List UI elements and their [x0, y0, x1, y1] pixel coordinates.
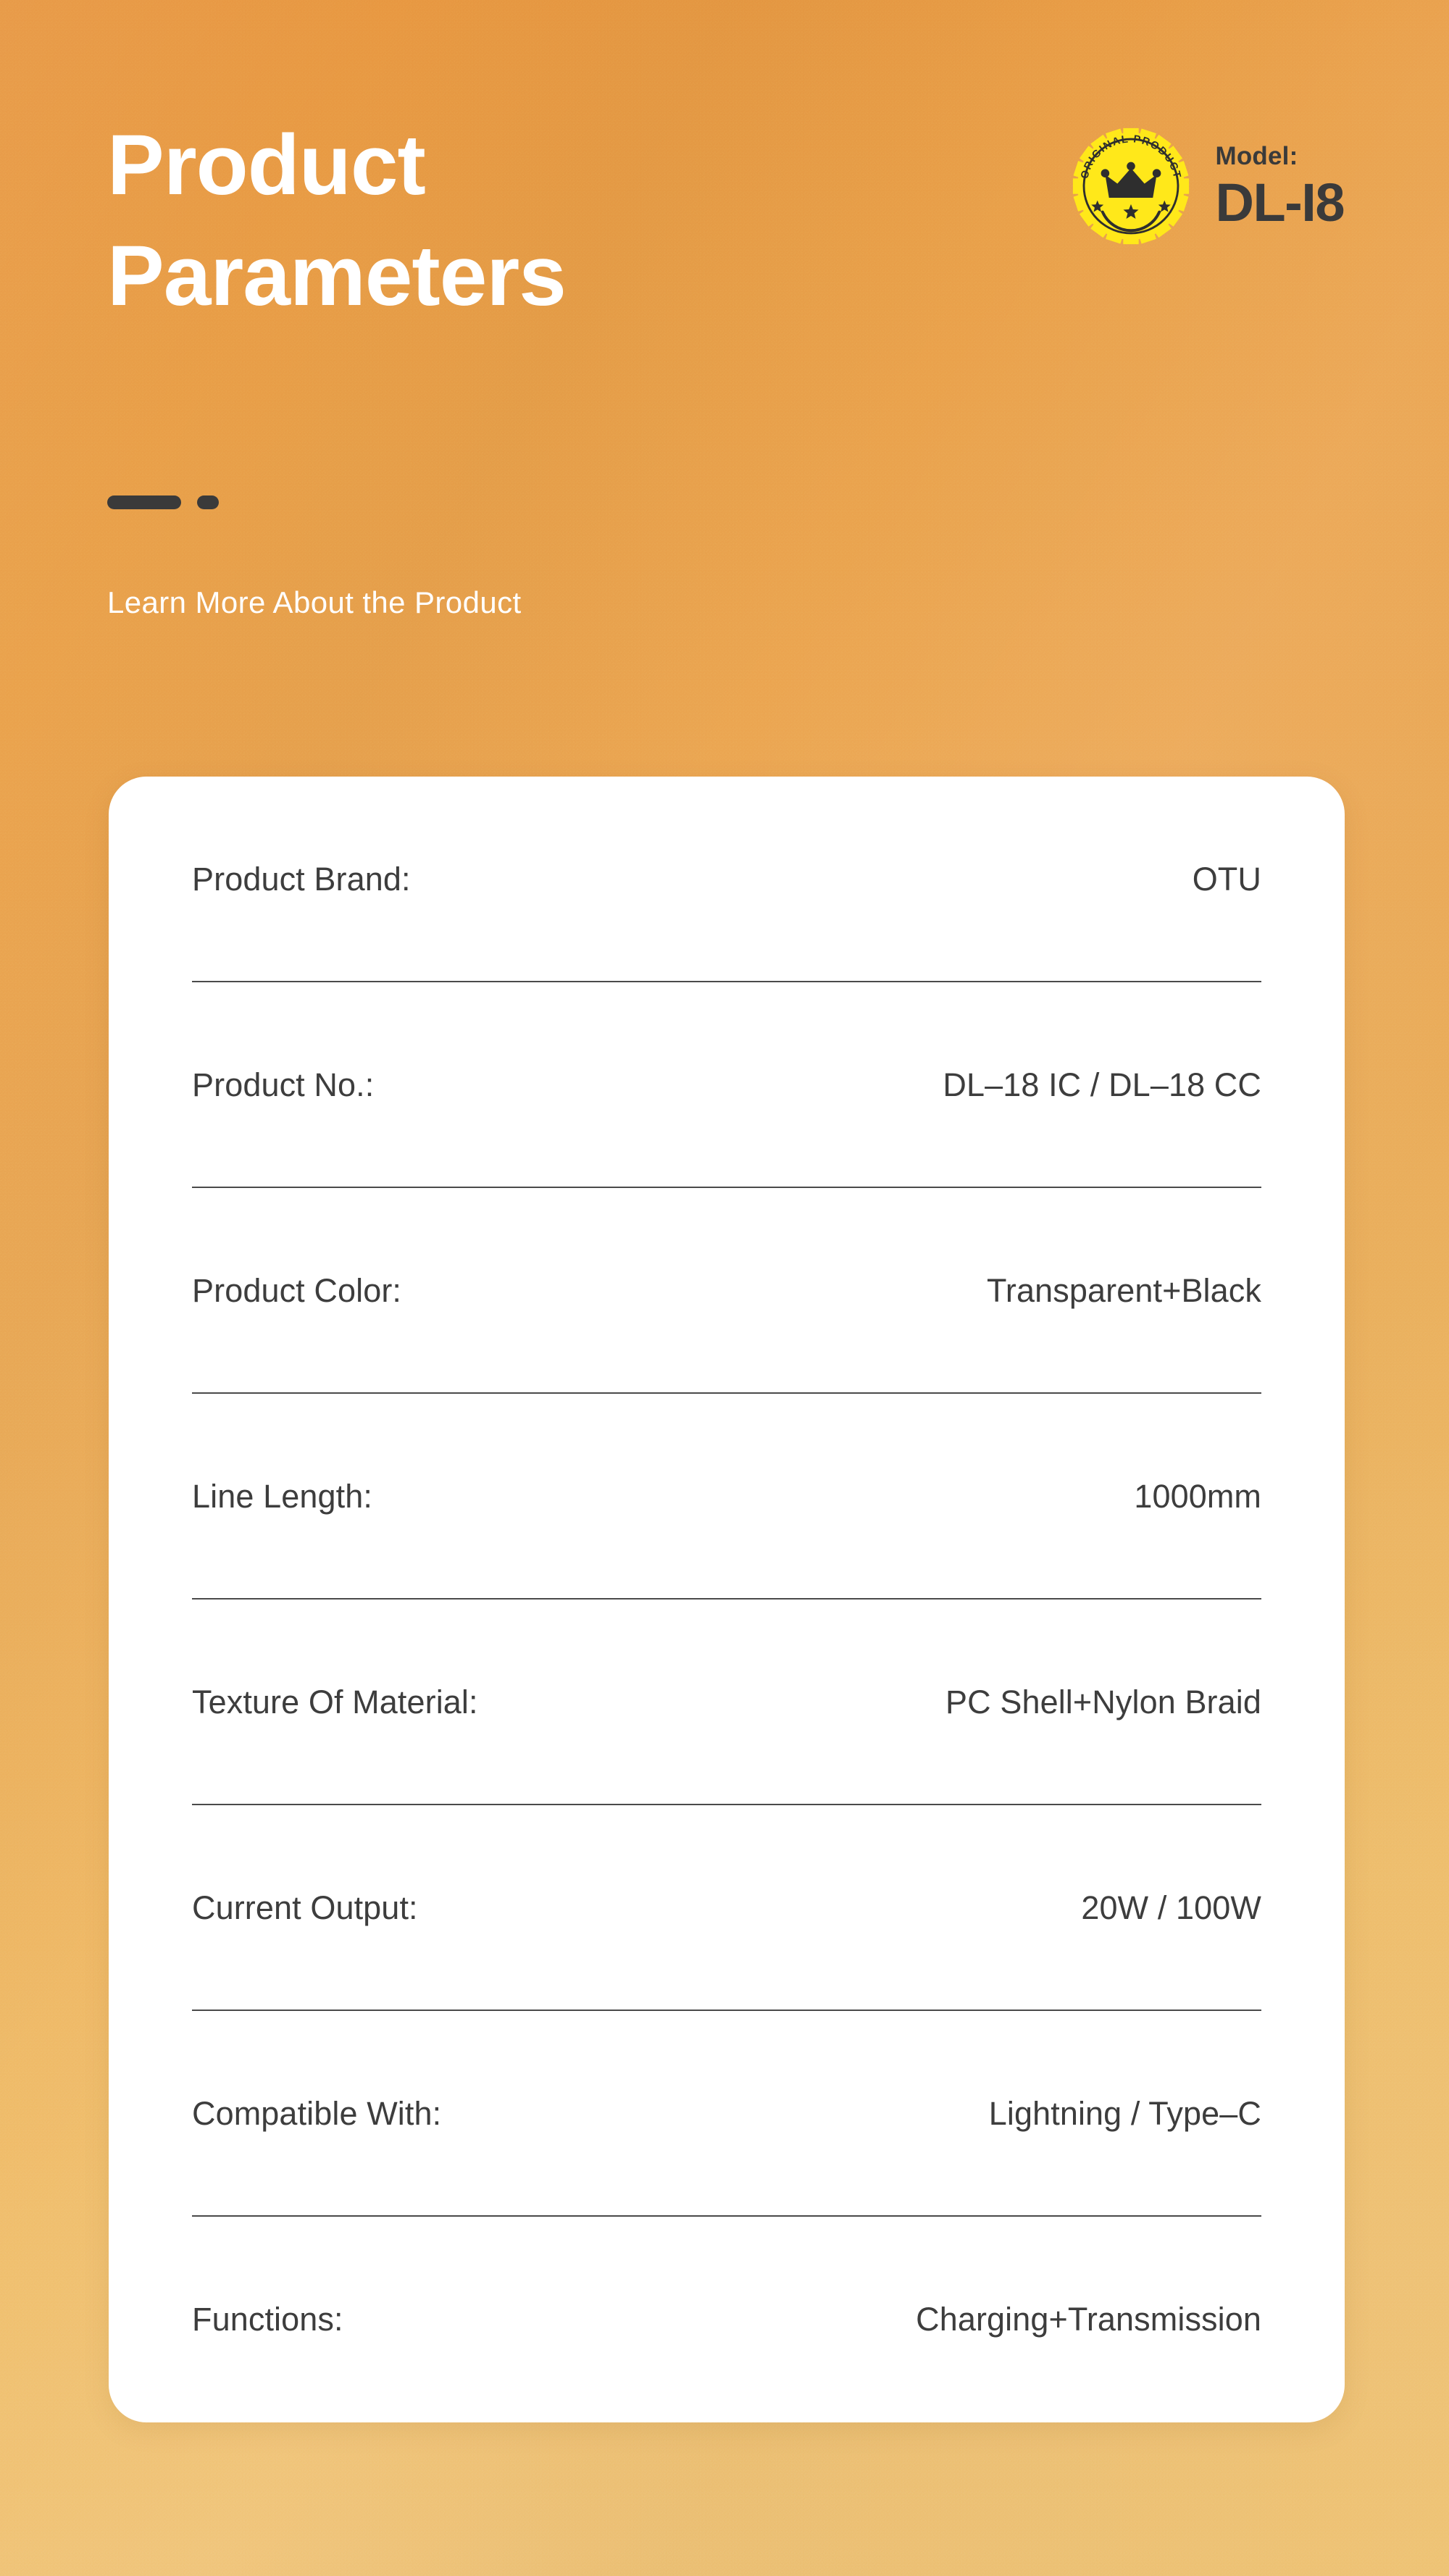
page-title-line-1: Product [107, 117, 425, 213]
model-label: Model: [1216, 143, 1345, 169]
model-text-group: Model: DL-I8 [1216, 143, 1345, 230]
page-subtitle: Learn More About the Product [107, 585, 522, 620]
spec-label: Line Length: [192, 1478, 372, 1515]
spec-label: Product Color: [192, 1272, 401, 1310]
spec-value: 1000mm [1134, 1478, 1261, 1515]
model-badge-block: ORIGINAL PRODUCT Model: DL-I8 [1066, 122, 1345, 251]
original-product-seal-icon: ORIGINAL PRODUCT [1066, 122, 1195, 251]
spec-label: Compatible With: [192, 2095, 441, 2133]
spec-table-card: Product Brand: OTU Product No.: DL–18 IC… [109, 777, 1345, 2422]
spec-value: DL–18 IC / DL–18 CC [943, 1066, 1261, 1104]
underline-bar [107, 495, 181, 509]
table-row: Texture Of Material: PC Shell+Nylon Brai… [192, 1599, 1261, 1805]
table-row: Current Output: 20W / 100W [192, 1805, 1261, 2011]
spec-label: Current Output: [192, 1889, 418, 1927]
page-title: Product Parameters [107, 110, 940, 333]
spec-value: Transparent+Black [987, 1272, 1261, 1310]
table-row: Line Length: 1000mm [192, 1394, 1261, 1599]
table-row: Functions: Charging+Transmission [192, 2217, 1261, 2422]
spec-label: Product Brand: [192, 861, 411, 898]
table-row: Compatible With: Lightning / Type–C [192, 2011, 1261, 2217]
spec-value: Charging+Transmission [916, 2301, 1261, 2338]
page-title-line-2: Parameters [107, 228, 566, 324]
spec-label: Product No.: [192, 1066, 374, 1104]
spec-value: 20W / 100W [1081, 1889, 1261, 1927]
spec-value: PC Shell+Nylon Braid [945, 1684, 1261, 1721]
spec-value: OTU [1193, 861, 1261, 898]
title-underline-decoration [107, 495, 219, 509]
spec-label: Functions: [192, 2301, 343, 2338]
underline-dot [197, 495, 219, 509]
spec-label: Texture Of Material: [192, 1684, 478, 1721]
table-row: Product No.: DL–18 IC / DL–18 CC [192, 982, 1261, 1188]
table-row: Product Brand: OTU [192, 777, 1261, 982]
spec-value: Lightning / Type–C [989, 2095, 1261, 2133]
table-row: Product Color: Transparent+Black [192, 1188, 1261, 1394]
model-value: DL-I8 [1216, 176, 1345, 230]
